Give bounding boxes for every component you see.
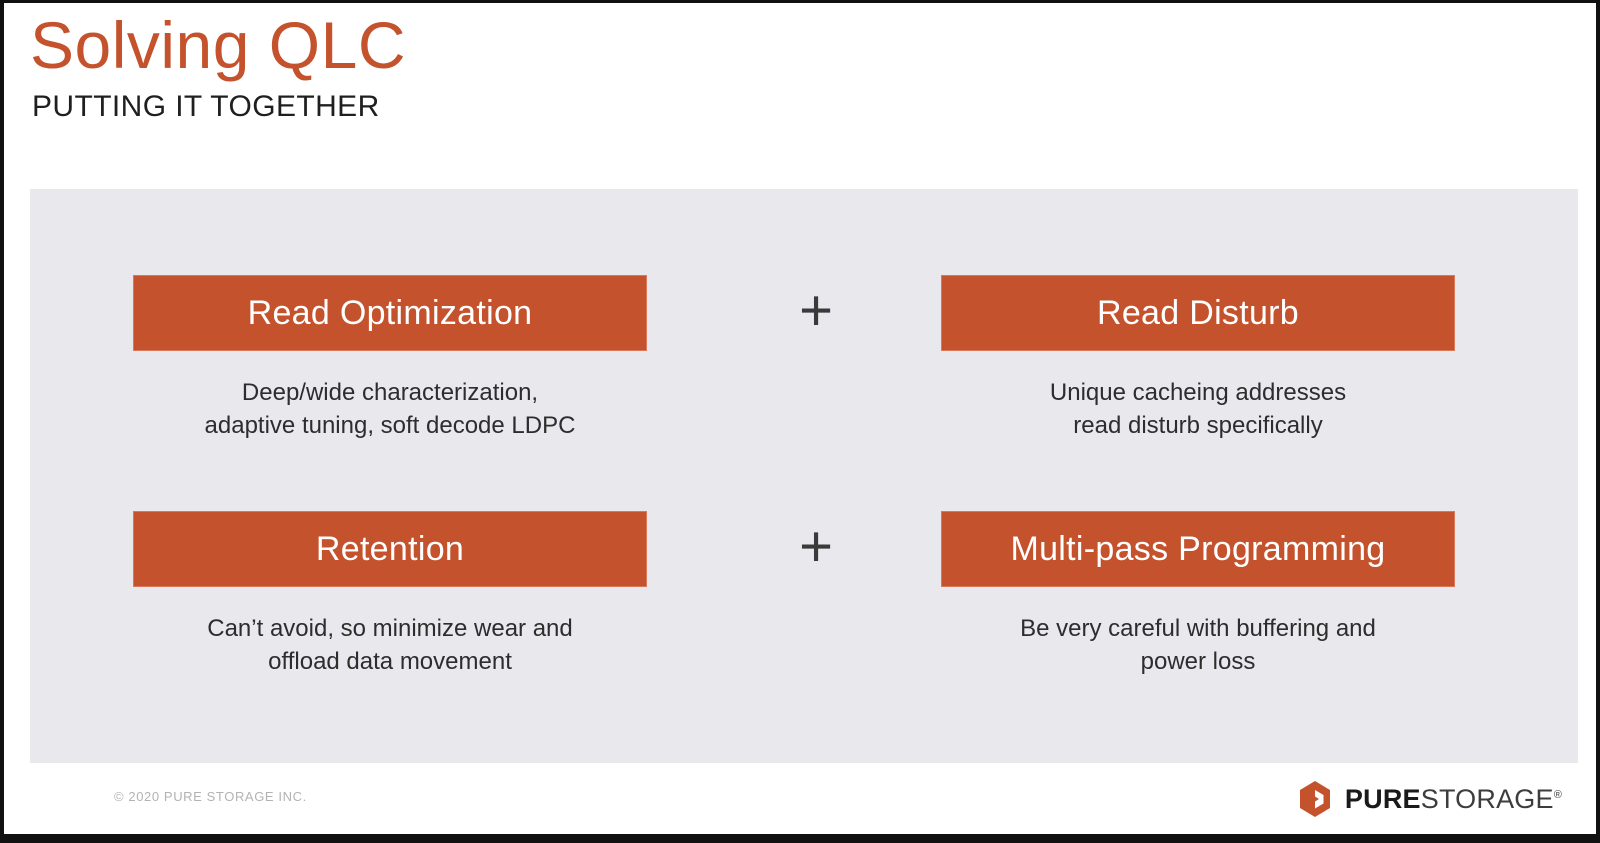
plus-icon: + [788, 521, 844, 577]
concept-cell-retention: Retention Can’t avoid, so minimize wear … [133, 511, 647, 678]
concept-box-retention[interactable]: Retention [133, 511, 647, 587]
concept-box-read-optimization[interactable]: Read Optimization [133, 275, 647, 351]
concept-box-multi-pass-programming[interactable]: Multi-pass Programming [941, 511, 1455, 587]
copyright-text: © 2020 PURE STORAGE INC. [114, 789, 307, 804]
page-title: Solving QLC [30, 11, 1230, 80]
registered-trademark-icon: ® [1554, 789, 1562, 801]
concept-cell-multi-pass-programming: Multi-pass Programming Be very careful w… [941, 511, 1455, 678]
concept-cell-read-optimization: Read Optimization Deep/wide characteriza… [133, 275, 647, 442]
concept-description: Deep/wide characterization, adaptive tun… [133, 377, 647, 442]
brand-logo: PURESTORAGE® [1295, 779, 1562, 819]
concept-description: Unique cacheing addresses read disturb s… [941, 377, 1455, 442]
concept-box-label: Read Disturb [1097, 296, 1299, 330]
slide-header: Solving QLC PUTTING IT TOGETHER [30, 11, 1230, 124]
brand-word-pure: PURE [1345, 784, 1421, 814]
concept-box-label: Read Optimization [248, 296, 533, 330]
content-panel: Read Optimization Deep/wide characteriza… [30, 189, 1578, 763]
pure-storage-hexagon-icon [1295, 779, 1335, 819]
brand-word-storage: STORAGE [1421, 784, 1554, 814]
brand-wordmark: PURESTORAGE® [1345, 786, 1562, 813]
plus-icon: + [788, 285, 844, 341]
concept-grid: Read Optimization Deep/wide characteriza… [30, 189, 1578, 763]
concept-description: Can’t avoid, so minimize wear and offloa… [133, 613, 647, 678]
concept-box-read-disturb[interactable]: Read Disturb [941, 275, 1455, 351]
concept-description: Be very careful with buffering and power… [941, 613, 1455, 678]
concept-box-label: Retention [316, 532, 464, 566]
slide: Solving QLC PUTTING IT TOGETHER Read Opt… [0, 0, 1600, 843]
concept-cell-read-disturb: Read Disturb Unique cacheing addresses r… [941, 275, 1455, 442]
page-subtitle: PUTTING IT TOGETHER [32, 90, 1230, 124]
concept-box-label: Multi-pass Programming [1010, 532, 1385, 566]
